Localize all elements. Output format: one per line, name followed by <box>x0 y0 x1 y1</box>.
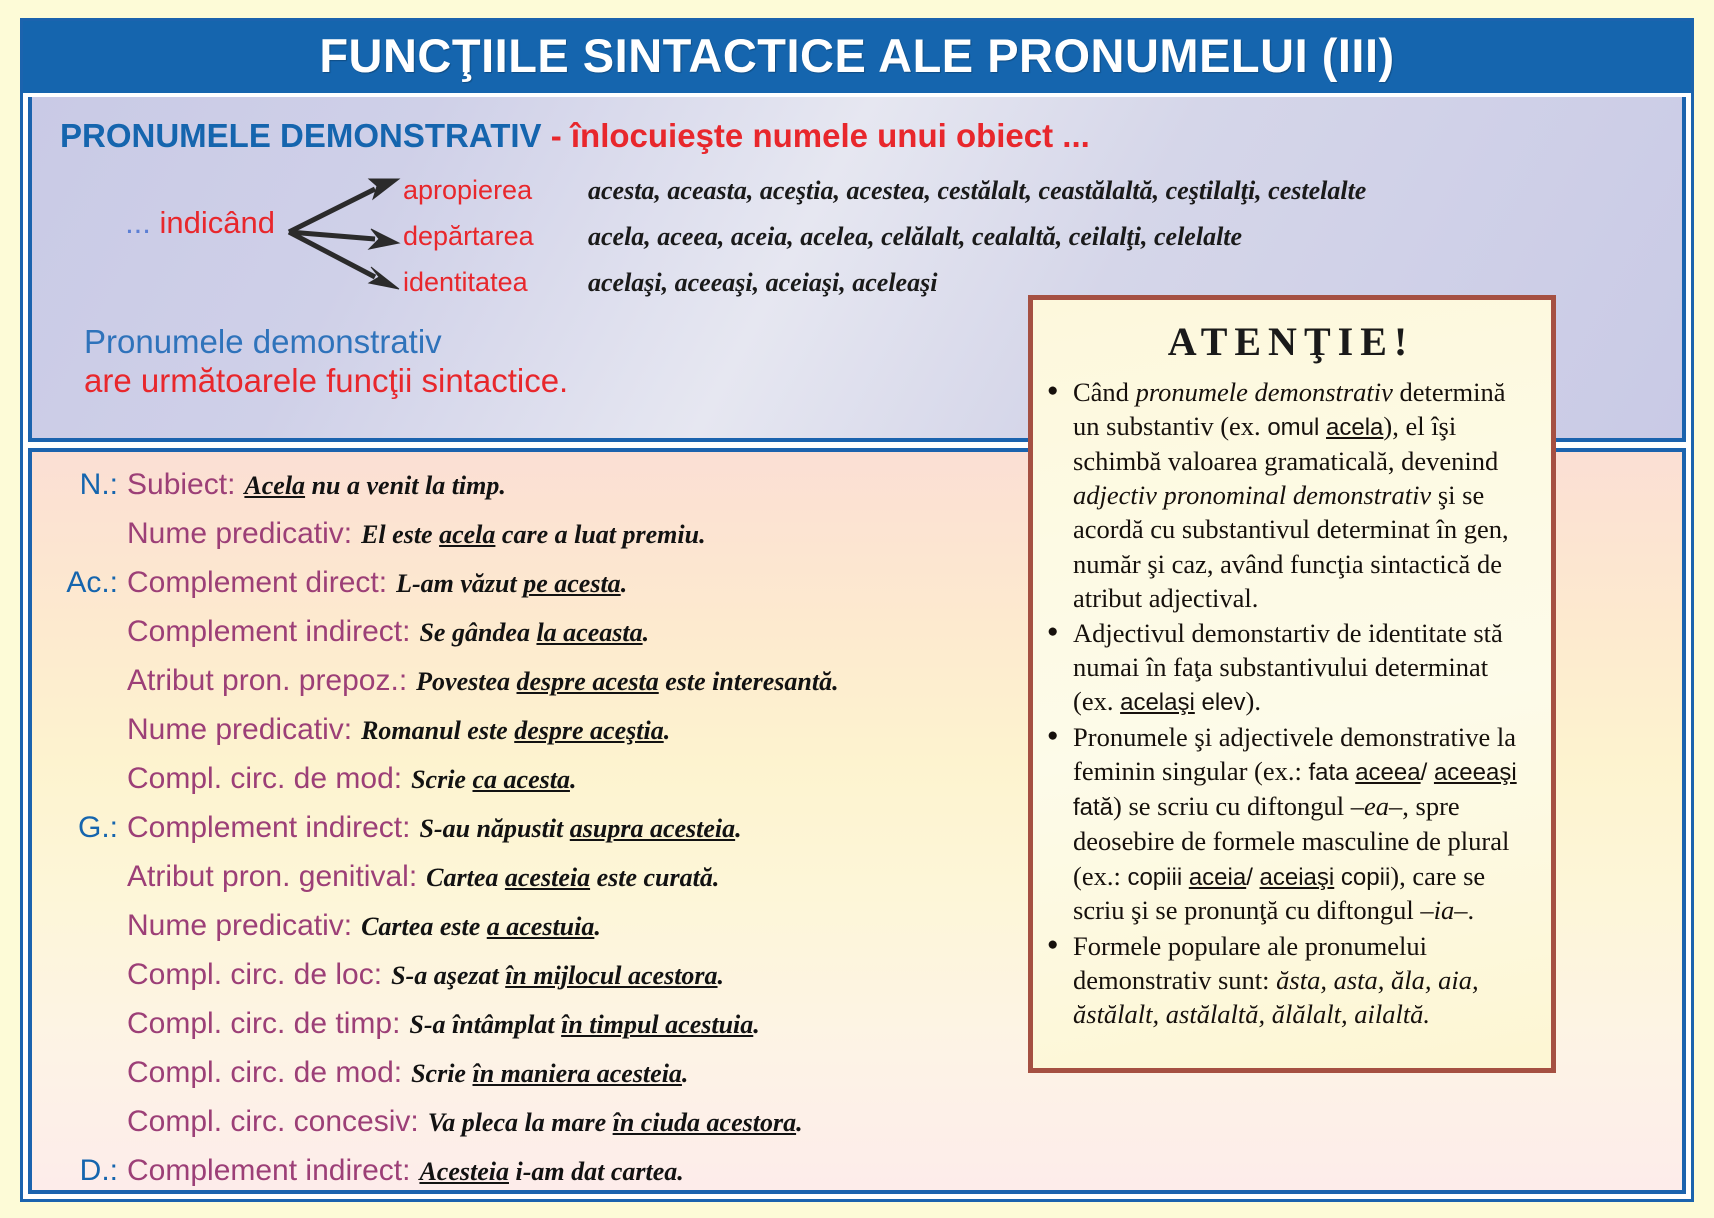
function-case-label <box>52 762 127 796</box>
function-name: Atribut pron. genitival: <box>127 860 426 894</box>
function-case-label: Ac.: <box>52 566 127 600</box>
attention-item: Formele populare ale pronumelui demonstr… <box>1047 929 1535 1032</box>
attention-list: Când pronumele demonstrativ determină un… <box>1047 375 1535 1031</box>
function-example: S-a aşezat în mijlocul acestora. <box>391 961 724 991</box>
function-name: Nume predicativ: <box>127 909 361 943</box>
function-example: Scrie în maniera acesteia. <box>411 1059 688 1089</box>
page-title: FUNCŢIILE SINTACTICE ALE PRONUMELUI (III… <box>23 21 1691 93</box>
function-case-label <box>52 909 127 943</box>
category-row: apropierea acesta, aceasta, aceştia, ace… <box>403 175 1682 221</box>
attention-box: ATENŢIE! Când pronumele demonstrativ det… <box>1028 295 1556 1073</box>
indicating-label: ... indicând <box>60 163 283 241</box>
function-case-label <box>52 615 127 649</box>
category-words-identitatea: acelaşi, aceeaşi, aceiaşi, aceleaşi <box>588 268 937 298</box>
function-example: S-a întâmplat în timpul acestuia. <box>409 1010 759 1040</box>
function-name: Compl. circ. de mod: <box>127 762 411 796</box>
function-example: Acesteia i-am dat cartea. <box>419 1157 683 1187</box>
function-case-label <box>52 664 127 698</box>
function-case-label <box>52 1056 127 1090</box>
function-name: Compl. circ. de mod: <box>127 1056 411 1090</box>
function-name: Nume predicativ: <box>127 713 361 747</box>
function-name: Compl. circ. de timp: <box>127 1007 409 1041</box>
attention-item: Adjectivul demonstartiv de identitate st… <box>1047 616 1535 719</box>
categories-list: apropierea acesta, aceasta, aceştia, ace… <box>403 163 1682 313</box>
function-case-label <box>52 517 127 551</box>
category-words-departarea: acela, aceea, aceia, acelea, celălalt, c… <box>588 222 1242 252</box>
function-name: Nume predicativ: <box>127 517 361 551</box>
function-example: Acela nu a venit la timp. <box>244 471 505 501</box>
indicating-row: ... indicând <box>32 163 1682 313</box>
function-row: Compl. circ. concesiv:Va pleca la mare î… <box>52 1105 1682 1154</box>
attention-item: Când pronumele demonstrativ determină un… <box>1047 375 1535 615</box>
function-example: L-am văzut pe acesta. <box>396 569 627 599</box>
function-case-label: N.: <box>52 468 127 502</box>
function-example: El este acela care a luat premiu. <box>361 520 705 550</box>
function-case-label <box>52 1007 127 1041</box>
function-case-label: D.: <box>52 1154 127 1188</box>
function-example: Scrie ca acesta. <box>411 765 576 795</box>
function-example: Cartea este a acestuia. <box>361 912 601 942</box>
attention-title: ATENŢIE! <box>1047 312 1535 375</box>
function-example: Va pleca la mare în ciuda acestora. <box>428 1108 803 1138</box>
function-case-label <box>52 958 127 992</box>
function-name: Complement indirect: <box>127 615 419 649</box>
function-example: S-au năpustit asupra acesteia. <box>419 814 741 844</box>
function-example: Cartea acesteia este curată. <box>426 863 719 893</box>
indicating-word: indicând <box>151 205 275 240</box>
indicating-dots: ... <box>125 205 151 240</box>
function-example: Romanul este despre aceştia. <box>361 716 670 746</box>
function-case-label <box>52 860 127 894</box>
function-name: Complement direct: <box>127 566 396 600</box>
function-example: Se gândea la aceasta. <box>419 618 649 648</box>
function-case-label <box>52 713 127 747</box>
function-name: Subiect: <box>127 468 244 502</box>
function-name: Complement indirect: <box>127 1154 419 1188</box>
function-case-label: G.: <box>52 811 127 845</box>
function-name: Compl. circ. concesiv: <box>127 1105 428 1139</box>
definition-heading: PRONUMELE DEMONSTRATIV - înlocuieşte num… <box>32 109 1682 155</box>
function-name: Compl. circ. de loc: <box>127 958 391 992</box>
attention-item: Pronumele şi adjectivele demonstrative l… <box>1047 720 1535 927</box>
category-label-departarea: depărtarea <box>403 221 588 252</box>
poster-frame: FUNCŢIILE SINTACTICE ALE PRONUMELUI (III… <box>20 18 1694 1202</box>
definition-term: PRONUMELE DEMONSTRATIV <box>60 117 542 154</box>
poster: FUNCŢIILE SINTACTICE ALE PRONUMELUI (III… <box>0 0 1714 1218</box>
function-example: Povestea despre acesta este interesantă. <box>416 667 838 697</box>
function-row: D.:Complement indirect:Acesteia i-am dat… <box>52 1154 1682 1194</box>
category-row: depărtarea acela, aceea, aceia, acelea, … <box>403 221 1682 267</box>
three-arrows-icon <box>283 173 403 293</box>
category-label-identitatea: identitatea <box>403 267 588 298</box>
function-name: Atribut pron. prepoz.: <box>127 664 416 698</box>
function-case-label <box>52 1105 127 1139</box>
category-label-apropierea: apropierea <box>403 175 588 206</box>
definition-description: - înlocuieşte numele unui obiect ... <box>551 117 1090 154</box>
category-words-apropierea: acesta, aceasta, aceştia, acestea, cestă… <box>588 176 1366 206</box>
function-name: Complement indirect: <box>127 811 419 845</box>
arrows-group <box>283 163 403 293</box>
